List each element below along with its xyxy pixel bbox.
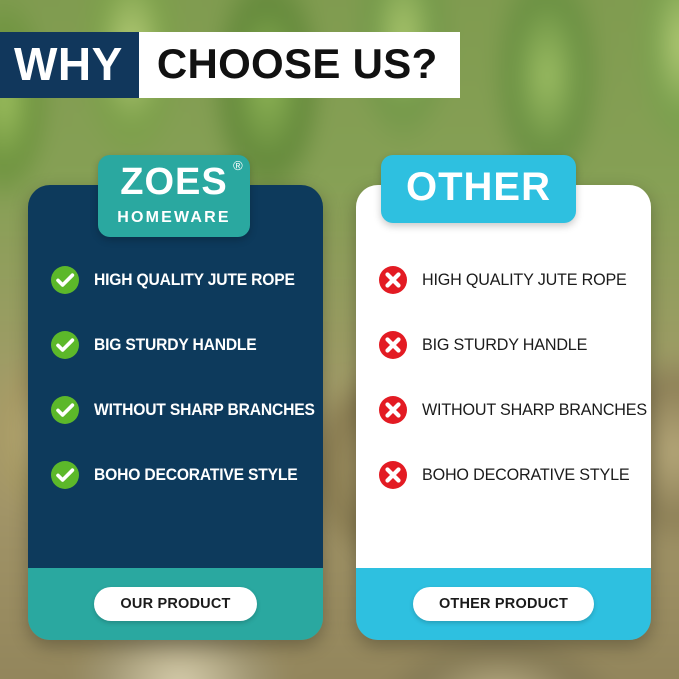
check-circle-icon (50, 395, 80, 425)
other-product-card-footer: OTHER PRODUCT (356, 568, 651, 640)
other-badge-title: OTHER (381, 167, 576, 207)
registered-trademark-icon: ® (233, 159, 243, 172)
list-item: WITHOUT SHARP BRANCHES (356, 377, 651, 442)
other-product-card: HIGH QUALITY JUTE ROPE BIG STURDY HANDLE… (356, 185, 651, 640)
feature-label: HIGH QUALITY JUTE ROPE (422, 270, 627, 290)
other-product-feature-list: HIGH QUALITY JUTE ROPE BIG STURDY HANDLE… (356, 247, 651, 507)
zoes-brand-badge: ZOES® HOMEWARE (98, 155, 250, 237)
list-item: BIG STURDY HANDLE (356, 312, 651, 377)
title-why-box: WHY (0, 32, 139, 98)
check-circle-icon (50, 330, 80, 360)
feature-label: HIGH QUALITY JUTE ROPE (94, 270, 295, 290)
check-circle-icon (50, 265, 80, 295)
our-product-feature-list: HIGH QUALITY JUTE ROPE BIG STURDY HANDLE… (28, 247, 323, 507)
our-product-card: HIGH QUALITY JUTE ROPE BIG STURDY HANDLE… (28, 185, 323, 640)
feature-label: BOHO DECORATIVE STYLE (422, 465, 630, 485)
other-brand-badge: OTHER (381, 155, 576, 223)
list-item: HIGH QUALITY JUTE ROPE (356, 247, 651, 312)
cross-circle-icon (378, 330, 408, 360)
our-product-card-footer: OUR PRODUCT (28, 568, 323, 640)
cross-circle-icon (378, 460, 408, 490)
list-item: HIGH QUALITY JUTE ROPE (28, 247, 323, 312)
feature-label: WITHOUT SHARP BRANCHES (422, 400, 647, 420)
brand-name: ZOES® (120, 163, 227, 201)
feature-label: WITHOUT SHARP BRANCHES (94, 400, 315, 420)
list-item: BOHO DECORATIVE STYLE (356, 442, 651, 507)
cross-circle-icon (378, 265, 408, 295)
our-product-card-body: HIGH QUALITY JUTE ROPE BIG STURDY HANDLE… (28, 185, 323, 568)
cross-circle-icon (378, 395, 408, 425)
other-product-button[interactable]: OTHER PRODUCT (413, 587, 594, 621)
other-product-card-body: HIGH QUALITY JUTE ROPE BIG STURDY HANDLE… (356, 185, 651, 568)
feature-label: BIG STURDY HANDLE (94, 335, 257, 355)
our-product-button[interactable]: OUR PRODUCT (94, 587, 256, 621)
brand-name-text: ZOES (120, 161, 227, 203)
title-choose-box: CHOOSE US? (139, 32, 460, 98)
page-title: WHY CHOOSE US? (0, 32, 460, 98)
feature-label: BOHO DECORATIVE STYLE (94, 465, 298, 485)
list-item: BIG STURDY HANDLE (28, 312, 323, 377)
feature-label: BIG STURDY HANDLE (422, 335, 587, 355)
check-circle-icon (50, 460, 80, 490)
list-item: BOHO DECORATIVE STYLE (28, 442, 323, 507)
list-item: WITHOUT SHARP BRANCHES (28, 377, 323, 442)
brand-subtitle: HOMEWARE (98, 210, 250, 226)
